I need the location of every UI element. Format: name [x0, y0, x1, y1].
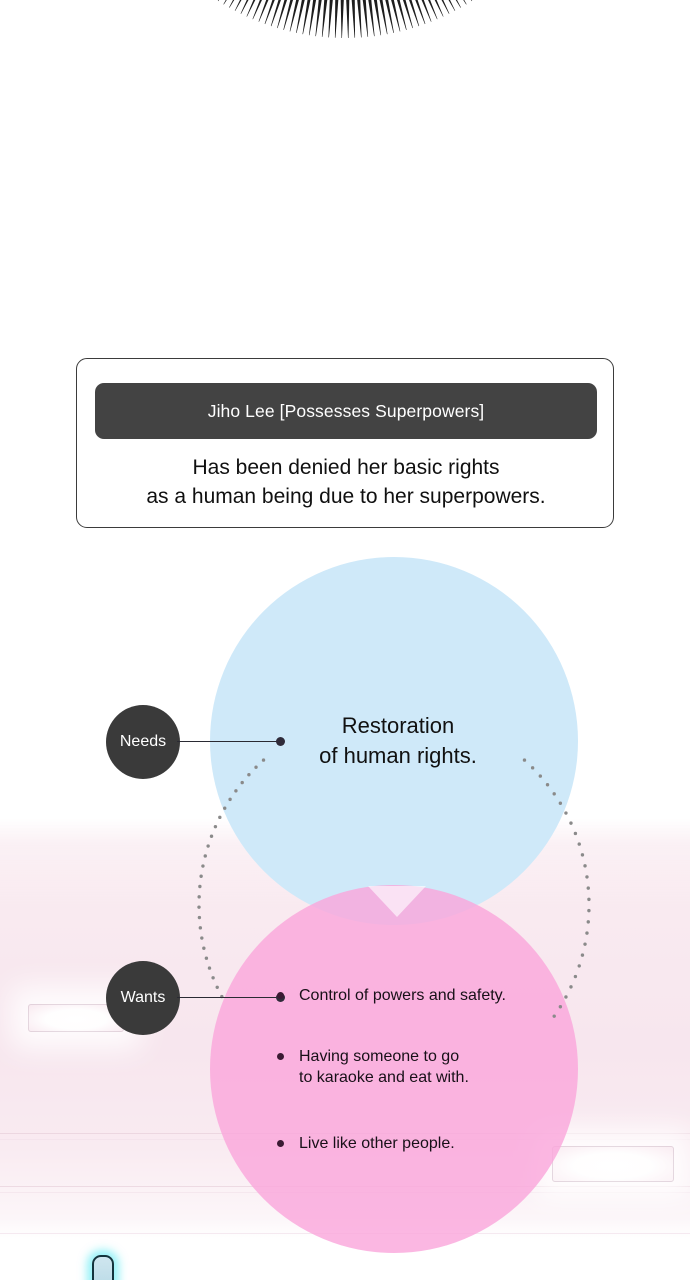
wants-label-badge: Wants: [106, 961, 180, 1035]
wants-label-text: Wants: [121, 989, 166, 1007]
needs-content: Restoration of human rights.: [267, 711, 529, 771]
glowing-arch-icon: [92, 1255, 114, 1280]
card-description: Has been denied her basic rights as a hu…: [77, 453, 615, 511]
needs-line-1: Restoration: [267, 711, 529, 741]
bullet-icon: [277, 992, 284, 999]
character-info-card: Jiho Lee [Possesses Superpowers] Has bee…: [76, 358, 614, 528]
wants-item-line-1: Live like other people.: [299, 1133, 600, 1154]
wants-connector-line: [177, 997, 281, 998]
comic-panel-stage: Jiho Lee [Possesses Superpowers] Has bee…: [0, 0, 690, 1280]
card-description-line-2: as a human being due to her superpowers.: [77, 482, 615, 511]
needs-label-text: Needs: [120, 733, 166, 751]
list-item: Having someone to go to karaoke and eat …: [270, 1046, 600, 1088]
card-header: Jiho Lee [Possesses Superpowers]: [95, 383, 597, 439]
needs-connector-line: [177, 741, 281, 742]
wants-item-line-1: Having someone to go: [299, 1046, 600, 1067]
page-title: Jiho Lee [Possesses Superpowers]: [208, 401, 485, 422]
list-item: Live like other people.: [270, 1133, 600, 1154]
wants-item-line-2: to karaoke and eat with.: [299, 1067, 600, 1088]
bullet-icon: [277, 1053, 284, 1060]
needs-line-2: of human rights.: [267, 741, 529, 771]
list-item: Control of powers and safety.: [270, 985, 600, 1006]
wants-content-list: Control of powers and safety. Having som…: [270, 985, 600, 1154]
card-description-line-1: Has been denied her basic rights: [77, 453, 615, 482]
bullet-icon: [277, 1140, 284, 1147]
needs-label-badge: Needs: [106, 705, 180, 779]
wants-item-line-1: Control of powers and safety.: [299, 985, 600, 1006]
triangle-down-icon: [368, 886, 426, 917]
radial-burst-arc-icon: [0, 0, 690, 102]
